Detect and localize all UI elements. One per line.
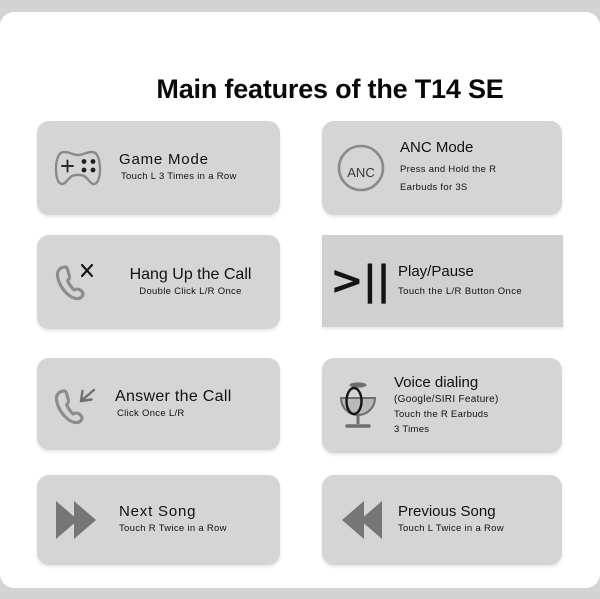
microphone-icon: [322, 376, 394, 436]
feature-card-text: Previous Song Touch L Twice in a Row: [398, 503, 562, 536]
feature-card-previous-song[interactable]: Previous Song Touch L Twice in a Row: [322, 475, 562, 565]
feature-title: Next Song: [119, 503, 280, 522]
feature-line: Touch the R Earbuds: [394, 408, 562, 423]
feature-line: Touch R Twice in a Row: [119, 522, 280, 537]
rewind-icon: [322, 497, 398, 543]
gamepad-icon: [37, 147, 119, 189]
feature-card-text: Hang Up the Call Double Click L/R Once: [115, 265, 280, 300]
feature-card-game-mode[interactable]: Game Mode Touch L 3 Times in a Row: [37, 121, 280, 215]
phone-answer-icon: [37, 380, 115, 428]
feature-title: Play/Pause: [398, 263, 563, 282]
feature-card-text: Next Song Touch R Twice in a Row: [119, 503, 280, 536]
feature-title: Game Mode: [119, 151, 280, 170]
feature-line: Touch L 3 Times in a Row: [119, 170, 280, 185]
feature-title: Answer the Call: [115, 387, 280, 407]
feature-line: Touch L Twice in a Row: [398, 522, 562, 537]
feature-card-text: Answer the Call Click Once L/R: [115, 387, 280, 422]
feature-line: Click Once L/R: [115, 407, 280, 422]
feature-title: ANC Mode: [400, 139, 562, 158]
feature-title: Previous Song: [398, 503, 562, 522]
feature-card-next-song[interactable]: Next Song Touch R Twice in a Row: [37, 475, 280, 565]
feature-card-voice-dialing[interactable]: Voice dialing (Google/SIRI Feature) Touc…: [322, 358, 562, 453]
feature-grid: Game Mode Touch L 3 Times in a Row ANC A…: [0, 0, 600, 599]
anc-circle-icon: ANC: [322, 142, 400, 194]
feature-line: 3 Times: [394, 423, 562, 438]
anc-icon-label: ANC: [347, 165, 374, 180]
feature-card-text: Voice dialing (Google/SIRI Feature) Touc…: [394, 374, 562, 438]
feature-line: Double Click L/R Once: [115, 285, 280, 300]
fast-forward-icon: [37, 497, 119, 543]
feature-card-play-pause[interactable]: >|| Play/Pause Touch the L/R Button Once: [322, 235, 563, 327]
feature-line: Touch the L/R Button Once: [398, 285, 563, 300]
play-pause-icon: >||: [322, 261, 398, 301]
play-pause-glyph: >||: [330, 261, 390, 301]
feature-title: Hang Up the Call: [115, 265, 280, 285]
feature-card-hang-up[interactable]: Hang Up the Call Double Click L/R Once: [37, 235, 280, 329]
feature-line: (Google/SIRI Feature): [394, 392, 562, 408]
feature-title: Voice dialing: [394, 374, 562, 393]
feature-line: Press and Hold the R: [400, 161, 562, 179]
feature-card-text: Play/Pause Touch the L/R Button Once: [398, 263, 563, 299]
feature-card-answer-call[interactable]: Answer the Call Click Once L/R: [37, 358, 280, 450]
feature-card-text: ANC Mode Press and Hold the R Earbuds fo…: [400, 139, 562, 197]
feature-card-anc-mode[interactable]: ANC ANC Mode Press and Hold the R Earbud…: [322, 121, 562, 215]
feature-card-text: Game Mode Touch L 3 Times in a Row: [119, 151, 280, 184]
phone-hangup-icon: [37, 258, 115, 306]
feature-line: Earbuds for 3S: [400, 179, 562, 197]
